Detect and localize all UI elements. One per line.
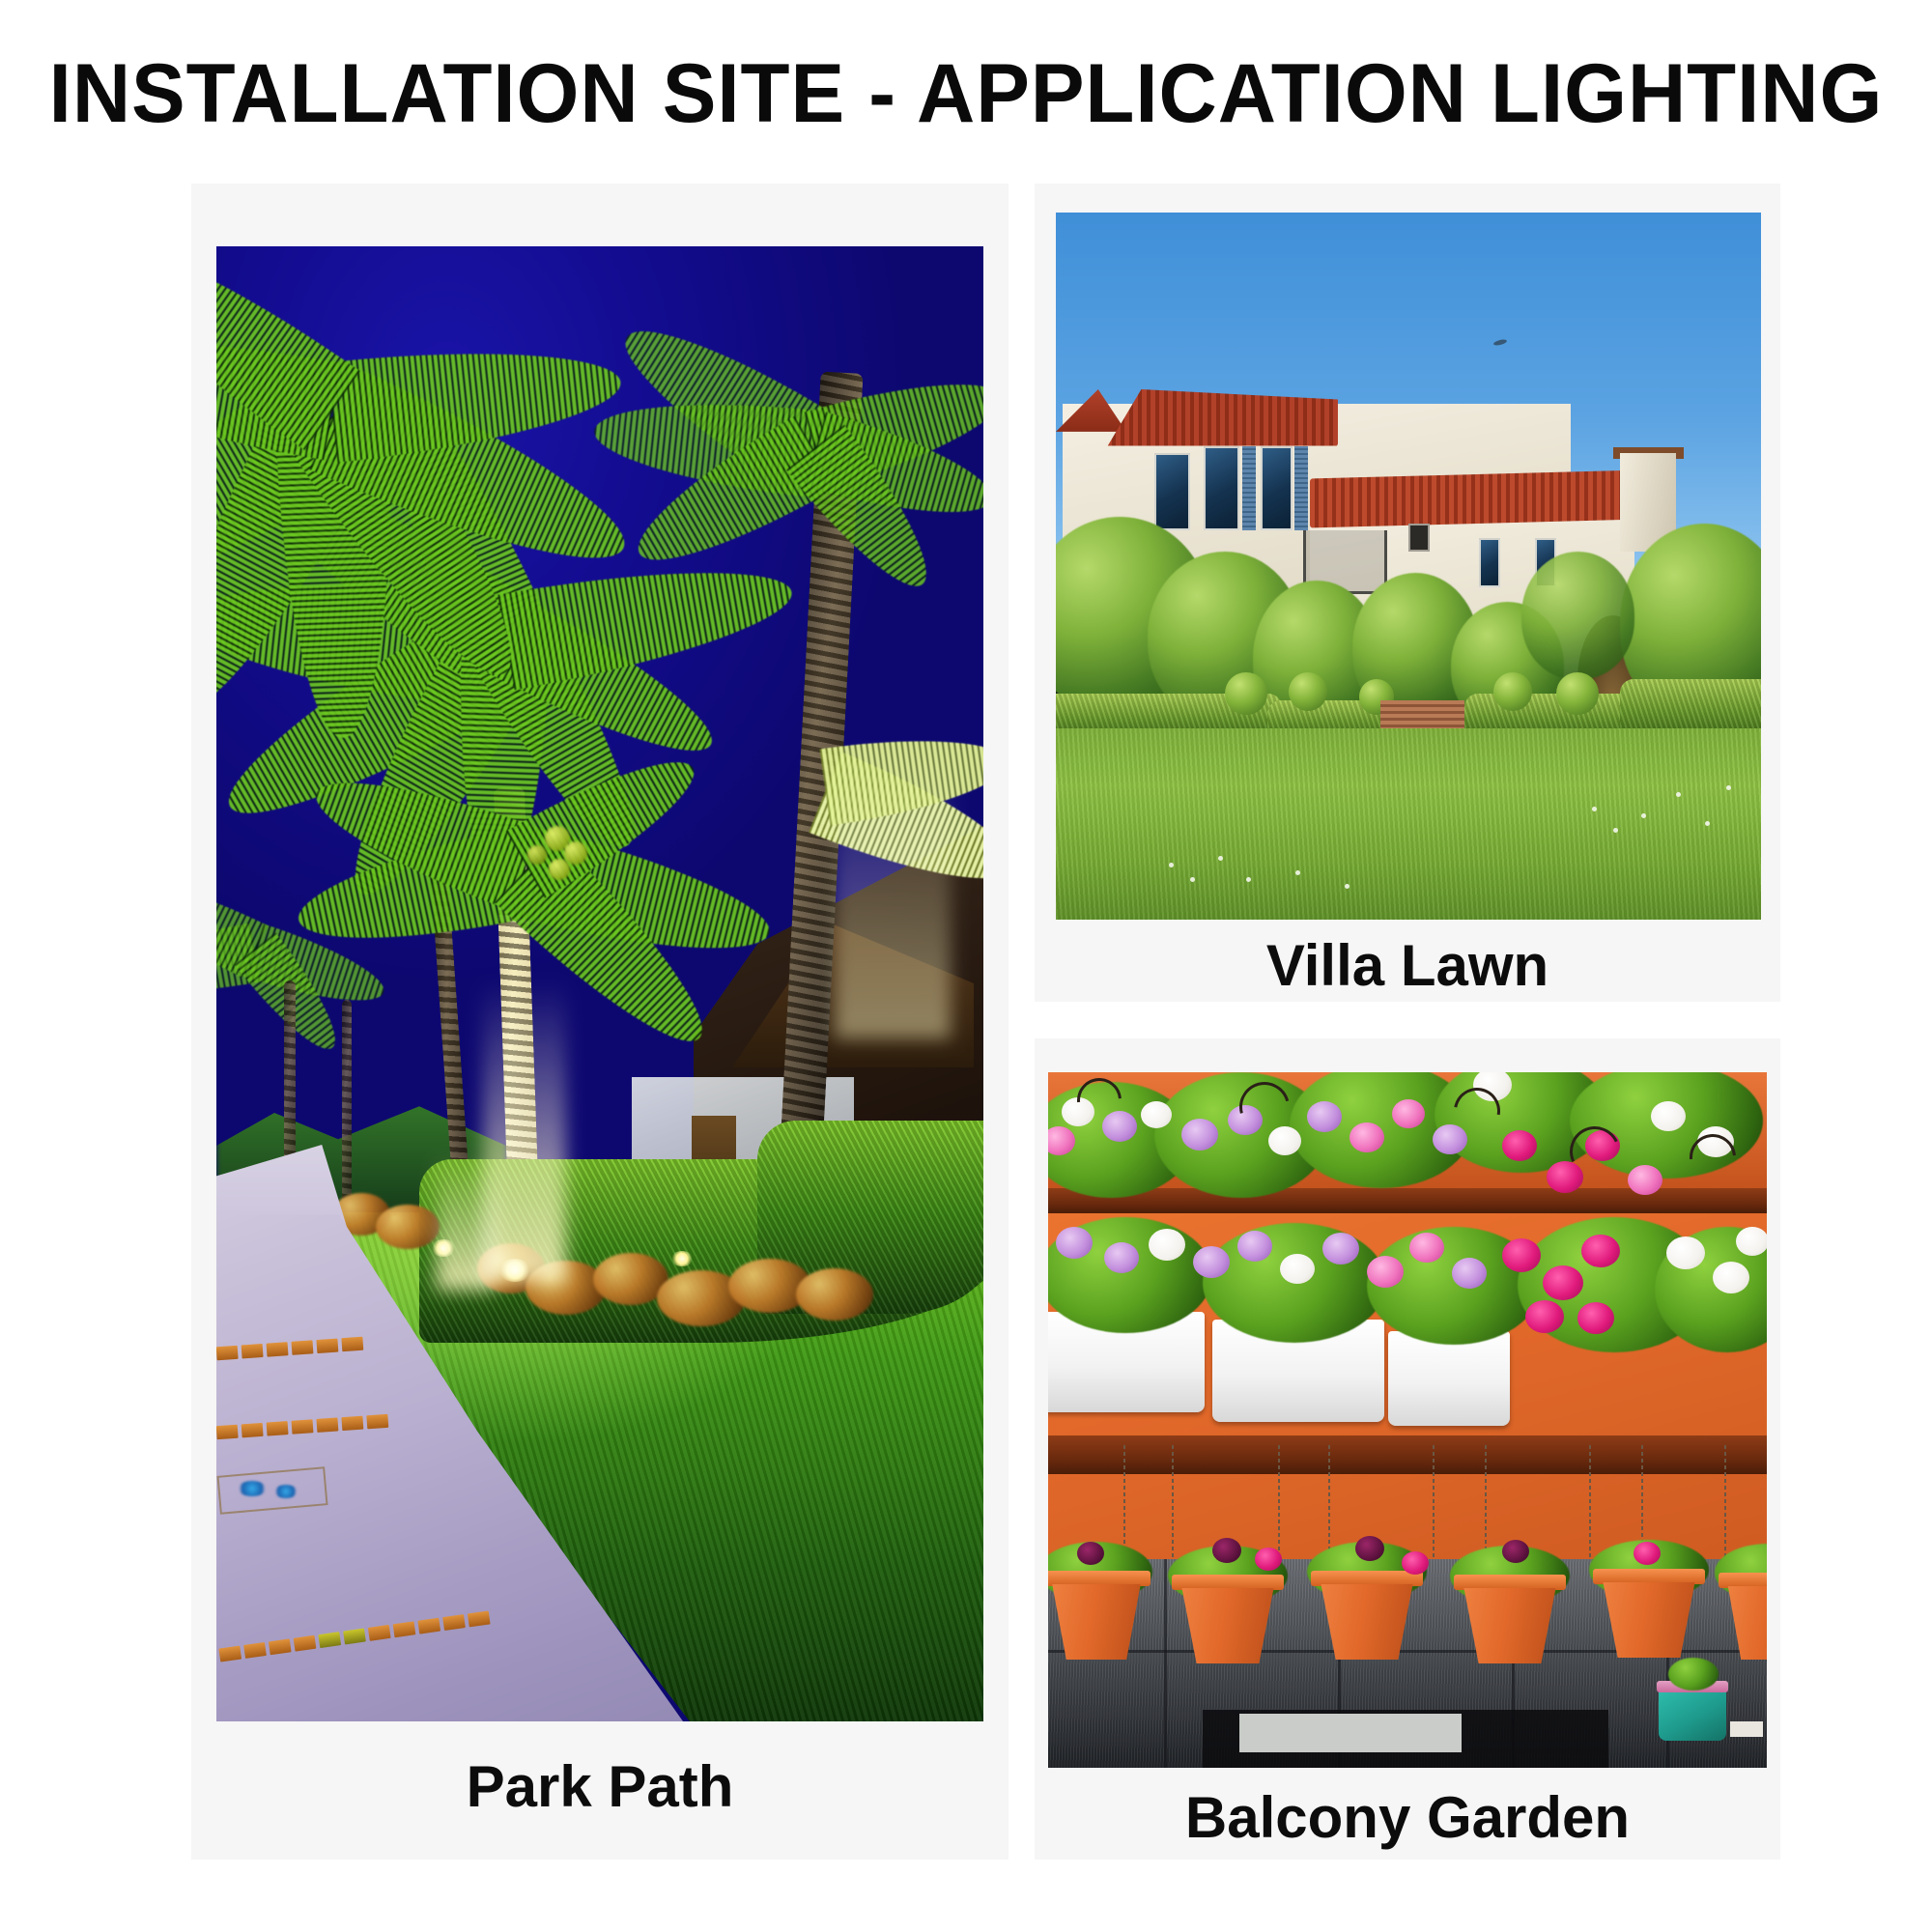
balcony-beam-lower [1048, 1435, 1767, 1474]
petunia-flower [1634, 1542, 1661, 1565]
hanging-chain [1433, 1445, 1435, 1573]
pot-rim [1311, 1571, 1423, 1586]
petunia-flower [1181, 1119, 1218, 1151]
villa-window [1479, 538, 1500, 587]
daisy [1705, 821, 1710, 826]
photo-park-path [216, 246, 983, 1721]
topiary-ball [1289, 672, 1327, 711]
petunia-flower [1149, 1229, 1185, 1261]
hanging-chain [1589, 1445, 1591, 1573]
petunia-flower [1367, 1256, 1404, 1288]
bucket-plant [1668, 1658, 1719, 1690]
ground-light-fixture [670, 1251, 694, 1266]
daisy [1613, 828, 1618, 833]
daisy [1190, 877, 1195, 882]
flowering-shrub [796, 1268, 873, 1321]
caption-balcony-garden: Balcony Garden [1035, 1784, 1780, 1851]
coconut-cluster [549, 859, 570, 880]
pot-rim [1454, 1575, 1566, 1590]
coconut-cluster [527, 845, 547, 865]
petunia-flower [1581, 1235, 1620, 1267]
petunia-flower [1402, 1551, 1429, 1575]
card-balcony-garden[interactable]: Balcony Garden [1035, 1038, 1780, 1860]
pot-rim [1593, 1569, 1705, 1584]
uplight-beam [437, 1154, 495, 1290]
petunia-flower [1577, 1302, 1614, 1334]
pot-rim [1172, 1575, 1284, 1590]
topiary-ball [1493, 672, 1532, 711]
daisy [1295, 870, 1300, 875]
villa-window [1261, 446, 1293, 531]
balcony-beam-upper [1048, 1188, 1767, 1213]
pot-rim [1048, 1571, 1151, 1586]
petunia-flower [1280, 1254, 1315, 1284]
slate-seam [1164, 1559, 1167, 1768]
petunia-flower [1255, 1548, 1282, 1571]
petunia-flower [1355, 1536, 1384, 1561]
caption-villa-lawn: Villa Lawn [1035, 932, 1780, 999]
photo-balcony-garden [1048, 1072, 1767, 1768]
photo-villa-lawn [1056, 213, 1761, 920]
path-blue-inlay [274, 1485, 298, 1498]
villa-window [1154, 453, 1190, 531]
petunia-flower [1392, 1099, 1425, 1128]
front-lawn [1056, 728, 1761, 920]
tree [1521, 552, 1634, 679]
petunia-flower [1651, 1101, 1686, 1131]
page-title: INSTALLATION SITE - APPLICATION LIGHTING [29, 46, 1903, 142]
petunia-flower [1543, 1265, 1583, 1300]
window-box [1388, 1331, 1510, 1426]
daisy [1218, 856, 1223, 861]
petunia-flower [1502, 1540, 1529, 1563]
petunia-flower [1104, 1242, 1139, 1273]
ground-light-fixture [498, 1259, 531, 1282]
petunia-flower [1350, 1122, 1384, 1152]
petunia-flower [1628, 1165, 1662, 1195]
window-shutter [1294, 446, 1309, 531]
petunia-flower [1322, 1233, 1359, 1264]
window-shutter [1242, 446, 1257, 531]
flowering-shrub [376, 1205, 440, 1249]
petunia-flower [1212, 1538, 1241, 1563]
card-park-path[interactable]: Park Path [191, 184, 1009, 1860]
uplight-beam [835, 749, 951, 1038]
petunia-flower [1713, 1262, 1749, 1293]
card-villa-lawn[interactable]: Villa Lawn [1035, 184, 1780, 1002]
hanging-chain [1172, 1445, 1174, 1573]
petunia-flower [1502, 1238, 1541, 1272]
petunia-flower [1666, 1236, 1705, 1269]
decorative-bucket [1659, 1687, 1726, 1741]
coconut-cluster [564, 841, 587, 865]
petunia-flower [1452, 1258, 1487, 1289]
petunia-flower [1736, 1227, 1767, 1256]
villa-window [1408, 524, 1430, 552]
petunia-flower [1525, 1300, 1564, 1333]
ground-light-fixture [431, 1239, 456, 1257]
petunia-flower [1077, 1542, 1104, 1565]
villa-tile-roof-right [1310, 469, 1641, 527]
petunia-flower [1193, 1246, 1230, 1278]
caption-park-path: Park Path [191, 1753, 1009, 1820]
topiary-ball [1225, 672, 1267, 715]
path-blue-inlay [238, 1481, 267, 1496]
petunia-flower [1307, 1101, 1342, 1132]
petunia-flower [1502, 1130, 1537, 1161]
petunia-flower [1409, 1233, 1444, 1263]
pot-rim [1719, 1573, 1767, 1588]
ledge-highlight [1239, 1714, 1462, 1752]
petunia-flower [1237, 1231, 1272, 1262]
petunia-flower [1056, 1227, 1093, 1259]
price-tag [1730, 1721, 1763, 1737]
topiary-ball [1556, 672, 1599, 715]
villa-window [1204, 446, 1239, 531]
daisy [1592, 807, 1597, 811]
petunia-flower [1141, 1101, 1172, 1128]
daisy [1726, 785, 1731, 790]
uplight-beam [483, 980, 566, 1280]
